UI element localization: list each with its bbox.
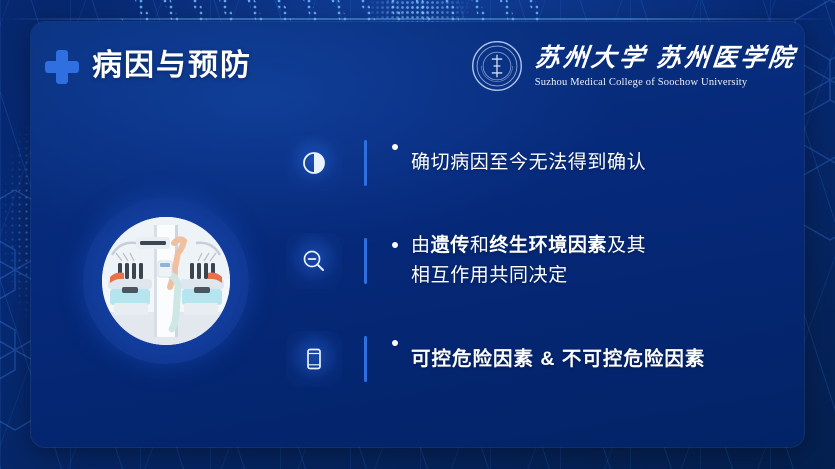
bullet-text-3: 可控危险因素 & 不可控危险因素 [411,344,705,374]
bullet-text-2-plain-d: 相互作用共同决定 [411,265,568,286]
bullet-text-1-segment: 确切病因至今无法得到确认 [411,152,646,173]
list-item: 由遗传和终生环境因素及其 相互作用共同决定 [286,228,784,294]
bullet-text-2-bold-b: 终生环境因素 [489,235,607,256]
logo-english-name: Suzhou Medical College of Soochow Univer… [535,76,748,89]
medical-cross-icon [45,50,79,84]
bullet-dot [392,242,398,248]
row-divider [364,140,367,186]
bullet-dot [392,340,398,346]
logo-chinese-name: 苏州大学 苏州医学院 [533,44,797,74]
university-logo: 苏州大学 苏州医学院 Suzhou Medical College of Soo… [471,40,796,92]
zoom-out-magnifier-icon [286,233,342,289]
bullet-list: 确切病因至今无法得到确认 由遗传和终生环境因素及其 相互作用共同决定 [286,130,784,392]
bullet-text-1: 确切病因至今无法得到确认 [411,148,646,178]
list-item: 确切病因至今无法得到确认 [286,130,784,196]
bullet-text-3-segment: 可控危险因素 & 不可控危险因素 [411,348,705,370]
row-divider [364,238,367,284]
mobile-device-icon [286,331,342,387]
bullet-dot [392,144,398,150]
bullet-text-2-bold-a: 遗传 [431,235,470,256]
content-panel: 病因与预防 苏州大学 苏州医学院 Suzhou Medical College … [31,22,804,447]
photo-circle-frame [83,198,249,364]
list-item: 可控危险因素 & 不可控危险因素 [286,326,784,392]
logo-text-block: 苏州大学 苏州医学院 Suzhou Medical College of Soo… [535,44,796,89]
contrast-circle-icon [286,135,342,191]
slide-header: 病因与预防 苏州大学 苏州医学院 Suzhou Medical College … [31,22,804,104]
slide-root: 病因与预防 苏州大学 苏州医学院 Suzhou Medical College … [0,0,835,469]
clinic-photo [102,217,230,345]
page-title: 病因与预防 [92,44,252,88]
bullet-text-2-plain-c: 及其 [607,235,646,256]
university-seal-icon [471,40,523,92]
bullet-text-2-plain-a: 由 [411,235,431,256]
row-divider [364,336,367,382]
clinic-photo-illustration [102,217,230,345]
bullet-text-2: 由遗传和终生环境因素及其 相互作用共同决定 [411,231,646,291]
bullet-text-2-plain-b: 和 [470,235,490,256]
